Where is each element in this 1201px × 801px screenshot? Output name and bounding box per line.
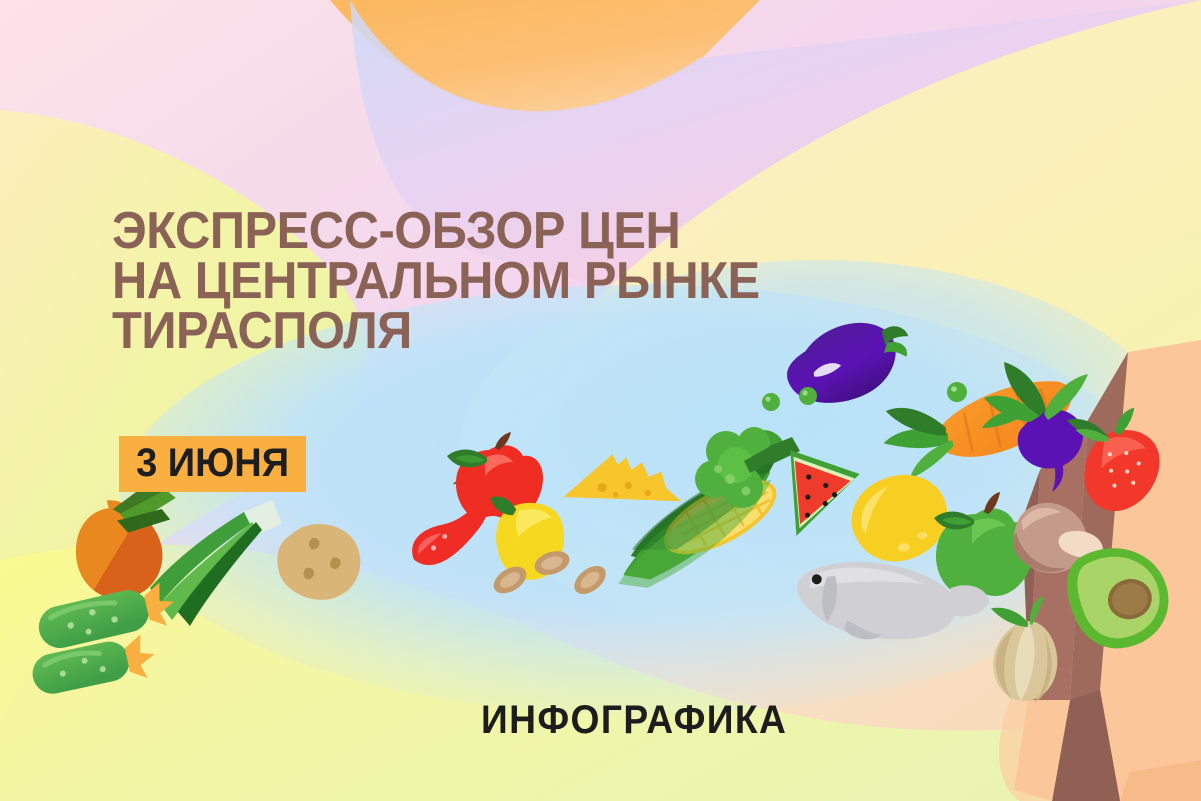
date-badge: 3 ИЮНЯ: [119, 436, 306, 492]
poster-canvas: ЭКСПРЕСС-ОБЗОР ЦЕН НА ЦЕНТРАЛЬНОМ РЫНКЕ …: [0, 0, 1201, 801]
text-layer: ЭКСПРЕСС-ОБЗОР ЦЕН НА ЦЕНТРАЛЬНОМ РЫНКЕ …: [0, 0, 1201, 801]
page-title-line-3: ТИРАСПОЛЯ: [112, 306, 789, 356]
page-title-line-1: ЭКСПРЕСС-ОБЗОР ЦЕН: [112, 206, 789, 256]
footer-label: ИНФОГРАФИКА: [481, 698, 787, 742]
page-title-line-2: НА ЦЕНТРАЛЬНОМ РЫНКЕ: [112, 256, 789, 306]
page-title: ЭКСПРЕСС-ОБЗОР ЦЕН НА ЦЕНТРАЛЬНОМ РЫНКЕ …: [112, 206, 789, 356]
